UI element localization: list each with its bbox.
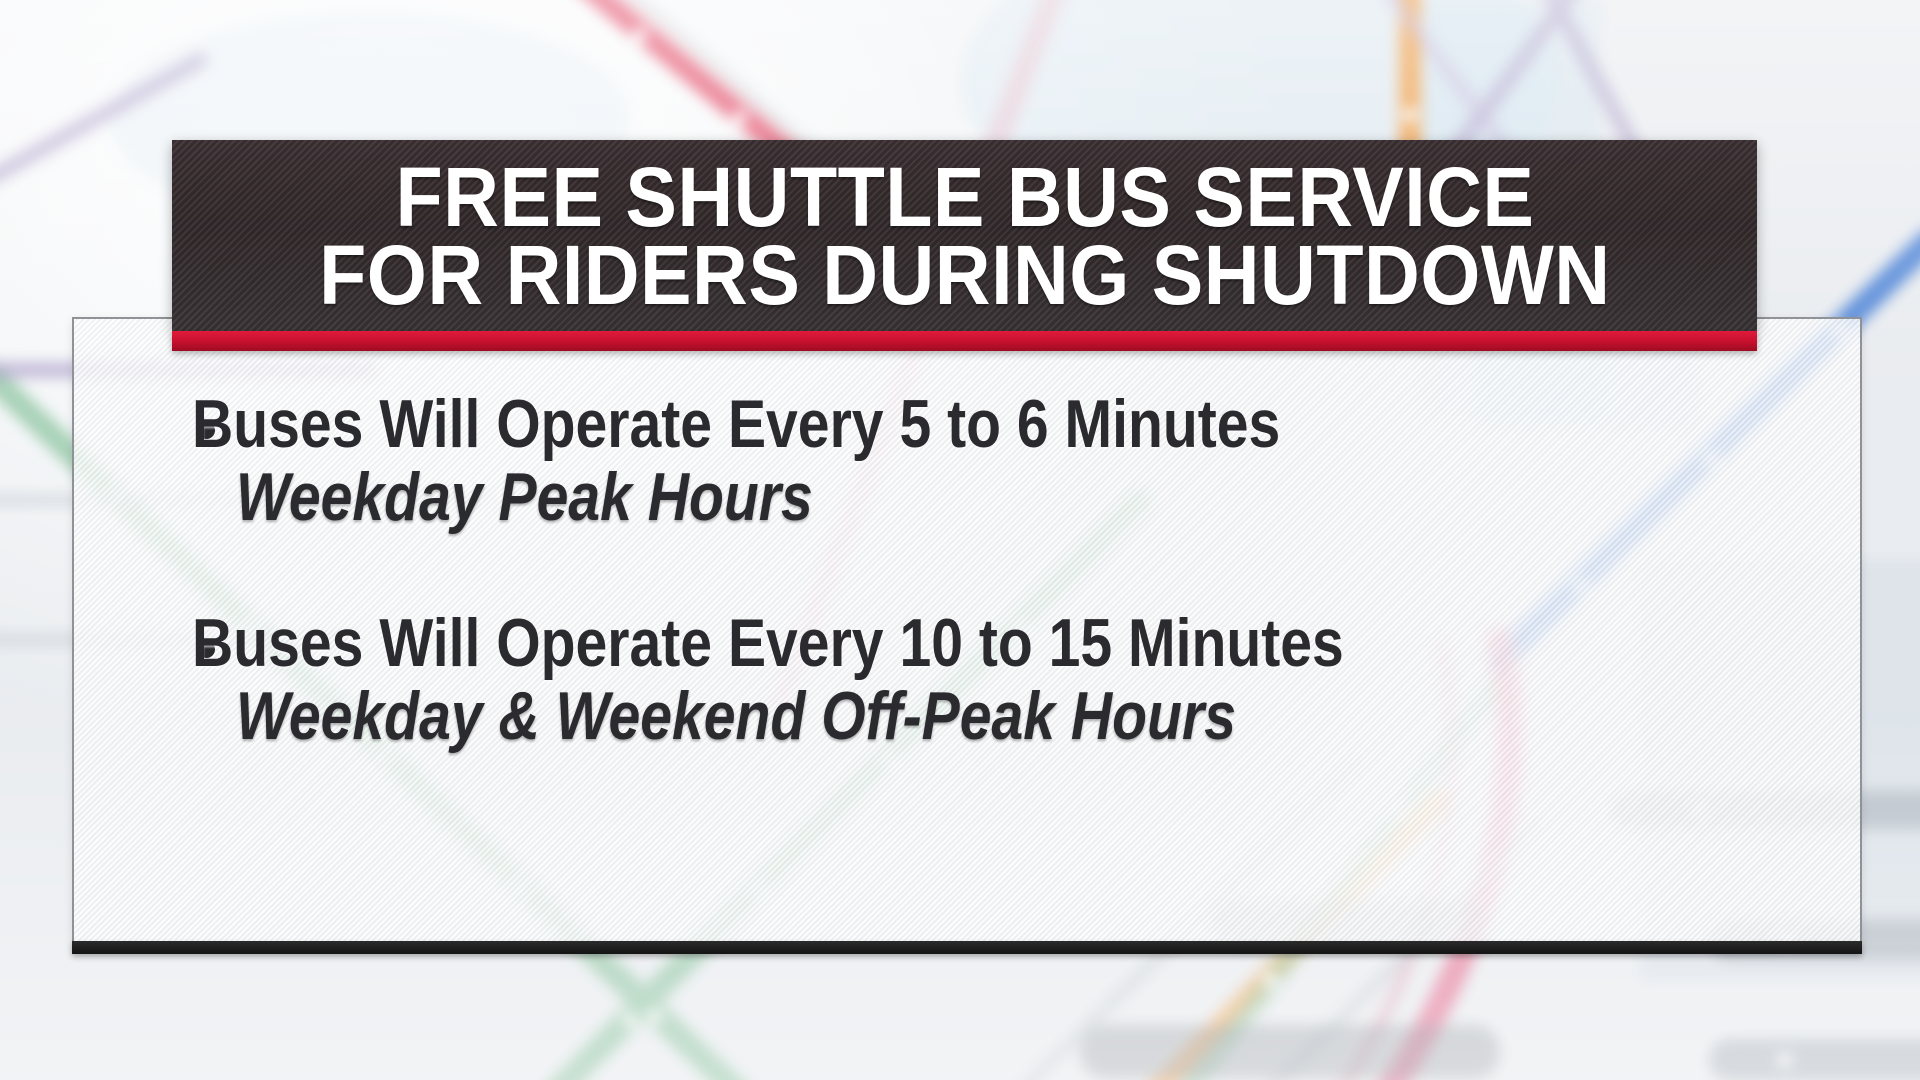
bullet-secondary-text: Weekday Peak Hours <box>236 460 1565 535</box>
bullet-secondary-text: Weekday & Weekend Off-Peak Hours <box>236 679 1565 754</box>
bullet-primary-text: Buses Will Operate Every 5 to 6 Minutes <box>192 388 1558 460</box>
bullet-primary-text: Buses Will Operate Every 10 to 15 Minute… <box>192 607 1558 679</box>
headline-banner-inner: FREE SHUTTLE BUS SERVICE FOR RIDERS DURI… <box>172 140 1757 331</box>
headline-line-2: FOR RIDERS DURING SHUTDOWN <box>319 235 1610 316</box>
headline-banner: FREE SHUTTLE BUS SERVICE FOR RIDERS DURI… <box>172 140 1757 331</box>
list-item: Buses Will Operate Every 10 to 15 Minute… <box>192 607 1818 754</box>
panel-bottom-bar <box>72 941 1862 954</box>
headline-accent-bar <box>172 331 1757 351</box>
headline-line-1: FREE SHUTTLE BUS SERVICE <box>395 157 1534 238</box>
news-graphic-stage: Buses Will Operate Every 5 to 6 Minutes … <box>0 0 1920 1080</box>
bullet-list: Buses Will Operate Every 5 to 6 Minutes … <box>72 360 1858 940</box>
list-item: Buses Will Operate Every 5 to 6 Minutes … <box>192 388 1818 535</box>
